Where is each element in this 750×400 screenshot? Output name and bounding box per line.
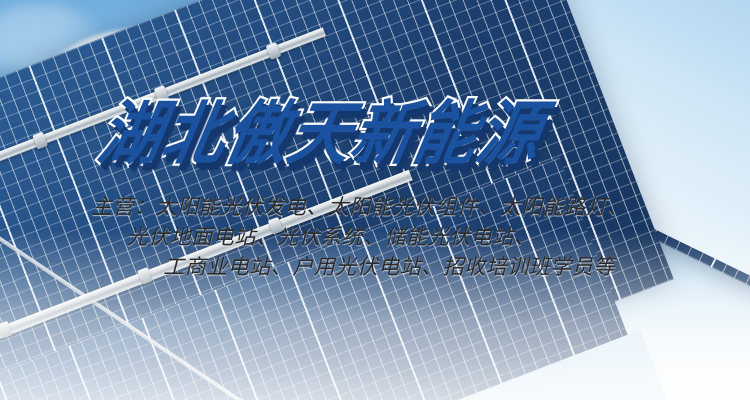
subtitle-line-3: 工商业电站、户用光伏电站、招收培训班学员等 (0, 253, 720, 283)
title-block: 湖北傲天新能源 (0, 104, 750, 166)
subtitle-line-1: 主营：太阳能光伏发电、太阳能光伏组件、太阳能路灯、 (0, 193, 720, 223)
solar-company-banner: 湖北傲天新能源 主营：太阳能光伏发电、太阳能光伏组件、太阳能路灯、 光伏地面电站… (0, 0, 750, 400)
subtitle-line-2: 光伏地面电站、光伏系统、储能光伏电站、 (0, 223, 720, 253)
subtitle-block: 主营：太阳能光伏发电、太阳能光伏组件、太阳能路灯、 光伏地面电站、光伏系统、储能… (0, 193, 750, 283)
company-title: 湖北傲天新能源 (93, 100, 548, 169)
